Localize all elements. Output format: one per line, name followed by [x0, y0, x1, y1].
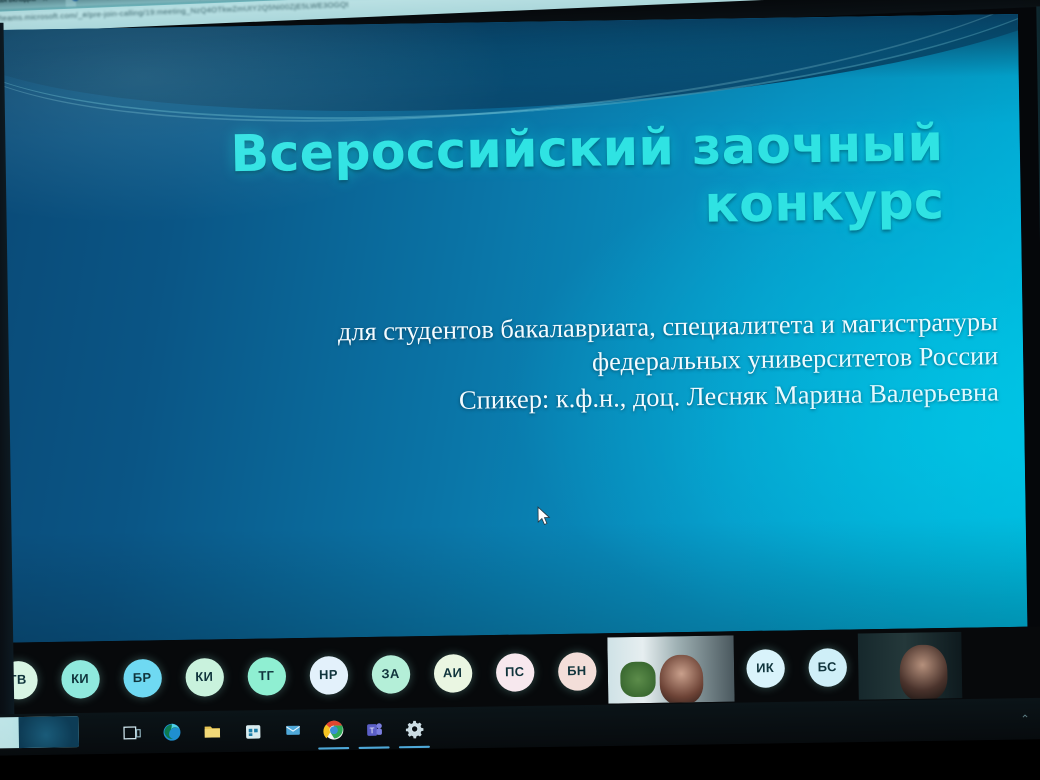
svg-text:T: T — [369, 726, 374, 735]
participant-tile[interactable]: КИ — [173, 639, 236, 714]
avatar[interactable]: ПС — [495, 653, 534, 692]
participant-tile[interactable]: БР — [111, 640, 174, 715]
participant-video-tile[interactable] — [858, 632, 963, 700]
settings-gear-icon[interactable] — [403, 717, 426, 740]
avatar-initials: БР — [133, 670, 152, 685]
participant-tile[interactable]: ТГ — [235, 638, 298, 713]
close-icon[interactable]: ✕ — [42, 0, 48, 3]
video-plant — [620, 661, 656, 697]
avatar[interactable]: КИ — [185, 657, 224, 696]
participant-tile[interactable]: НР — [297, 637, 360, 712]
task-view-icon[interactable] — [120, 721, 143, 744]
mouse-cursor-icon — [537, 506, 552, 527]
avatar[interactable]: АИ — [433, 654, 472, 693]
mail-icon[interactable] — [281, 719, 304, 742]
taskbar-icon-row: T — [120, 708, 426, 754]
avatar-initials: БН — [567, 664, 587, 679]
avatar[interactable]: КИ — [61, 659, 100, 698]
participant-video-tile[interactable] — [607, 635, 734, 703]
tab-favicon-icon — [72, 0, 80, 1]
participant-tile[interactable]: БС — [796, 629, 859, 704]
avatar-initials: НР — [319, 668, 338, 683]
laptop-bezel-right — [1036, 6, 1040, 669]
presentation-slide: Всероссийский заочный конкурс для студен… — [0, 14, 1027, 643]
avatar-initials: КИ — [195, 669, 213, 684]
participant-tile[interactable]: АИ — [421, 635, 484, 710]
screen-warp: 50 Новая вкладка ✕ Новый документ Почта … — [0, 0, 1040, 780]
taskbar-search-box[interactable]: ск, введите — [0, 716, 79, 749]
avatar-initials: АИ — [443, 666, 463, 681]
search-thumbnail-image — [19, 716, 80, 748]
avatar-initials: ИК — [756, 661, 774, 676]
avatar-initials: ПС — [505, 665, 525, 680]
avatar-initials: ЗА — [381, 667, 399, 682]
avatar[interactable]: НР — [309, 655, 348, 694]
slide-subtitle: для студентов бакалавриата, специалитета… — [159, 304, 999, 422]
browser-tab-label: Новая вкладка — [0, 0, 36, 5]
participant-tile[interactable]: КИ — [48, 641, 111, 716]
avatar[interactable]: БС — [808, 648, 847, 687]
avatar[interactable]: БН — [557, 652, 596, 691]
microsoft-teams-icon[interactable]: T — [362, 717, 385, 740]
participant-tile[interactable]: ЗА — [359, 636, 422, 711]
teams-shared-content-stage: Всероссийский заочный конкурс для студен… — [0, 14, 1027, 643]
video-participant-person — [899, 644, 947, 699]
google-chrome-icon[interactable] — [322, 718, 345, 741]
participant-tile[interactable]: БН — [545, 633, 608, 708]
avatar-initials: ТГ — [258, 669, 274, 684]
avatar-initials: БС — [818, 660, 837, 675]
avatar-initials: КИ — [71, 671, 89, 686]
microsoft-store-icon[interactable] — [241, 719, 264, 742]
video-participant-person — [659, 655, 703, 704]
participant-tile[interactable]: ПС — [483, 634, 546, 709]
avatar[interactable]: ЗА — [371, 654, 410, 693]
avatar[interactable]: БР — [123, 658, 162, 697]
file-explorer-icon[interactable] — [201, 720, 224, 743]
slide-title: Всероссийский заочный конкурс — [125, 115, 944, 243]
browser-tab-label: Новый документ — [83, 0, 139, 1]
participant-tile[interactable]: ИК — [733, 630, 796, 705]
photographed-laptop-screen: 50 Новая вкладка ✕ Новый документ Почта … — [0, 0, 1040, 780]
avatar[interactable]: ИК — [746, 649, 785, 688]
show-hidden-icons-chevron-icon[interactable]: ⌃ — [1020, 712, 1030, 726]
avatar[interactable]: ТГ — [247, 656, 286, 695]
microsoft-edge-icon[interactable] — [160, 721, 183, 744]
system-tray[interactable]: ⌃ — [1020, 698, 1040, 740]
slide-title-line-2: конкурс — [704, 171, 944, 234]
